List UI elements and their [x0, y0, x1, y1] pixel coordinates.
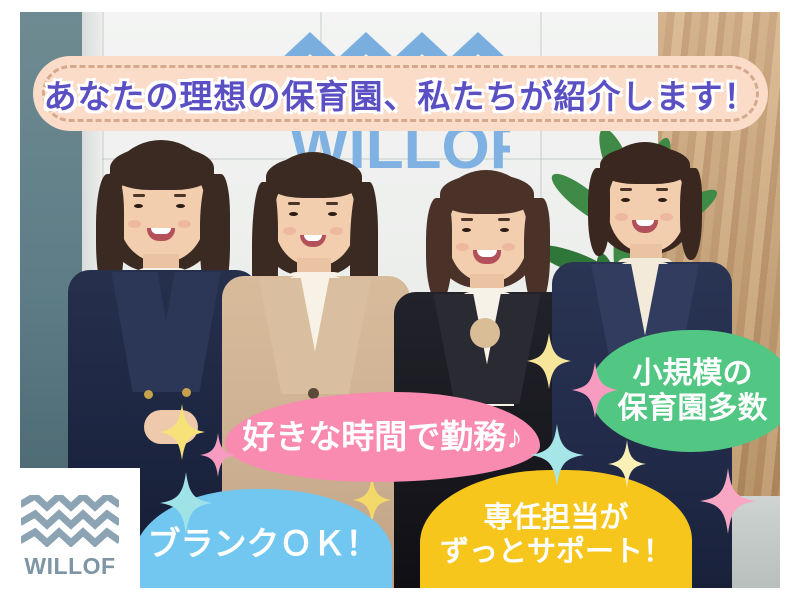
eye-left: [134, 204, 143, 208]
sparkle-pink-right-icon: [700, 468, 756, 534]
hair-fringe: [600, 146, 690, 184]
bubble-pink-line-1: 好きな時間で勤務♪: [242, 418, 523, 457]
brooch: [470, 318, 500, 348]
brow-left: [133, 194, 145, 197]
sparkle-pink-left-icon: [200, 433, 236, 477]
bubble-small-nurseries[interactable]: 小規模の 保育園多数: [590, 330, 795, 452]
jacket-button: [144, 390, 153, 399]
eye-right: [328, 212, 337, 216]
eye-right: [500, 228, 509, 232]
brow-left: [288, 202, 300, 205]
bubble-green-line-2: 保育園多数: [618, 391, 768, 426]
brow-right: [174, 194, 186, 197]
bubble-green-line-1: 小規模の: [618, 356, 768, 391]
sparkle-yellow-center-icon: [527, 333, 571, 389]
hair-side-left: [426, 198, 452, 302]
blush-left: [456, 243, 469, 251]
brow-right: [656, 188, 668, 191]
sparkle-cyan-left-icon: [160, 472, 212, 534]
bubble-dedicated-support[interactable]: 専任担当が ずっとサポート！: [420, 470, 692, 600]
brow-right: [498, 218, 510, 221]
hair-side-left: [588, 168, 610, 256]
blush-left: [615, 213, 628, 221]
hair-side-right: [524, 198, 550, 306]
sparkle-pink-center-icon: [572, 362, 618, 418]
jacket-button: [182, 388, 191, 397]
blush-right: [330, 227, 343, 235]
eye-left: [462, 228, 471, 232]
eye-left: [621, 198, 630, 202]
brow-right: [326, 202, 338, 205]
headline-text: あなたの理想の保育園、私たちが紹介します！: [33, 56, 768, 131]
hair-fringe: [440, 174, 534, 214]
hair-fringe: [266, 156, 362, 198]
blush-right: [502, 243, 515, 251]
willof-logo-badge[interactable]: WILLOF: [0, 468, 140, 600]
blush-left: [128, 220, 141, 228]
poster-canvas: WILLOF: [0, 0, 800, 600]
eye-right: [658, 198, 667, 202]
sparkle-yellow-right-icon: [608, 440, 646, 488]
willof-wordmark: WILLOF: [24, 553, 115, 580]
teeth: [151, 228, 171, 234]
blush-left: [283, 227, 296, 235]
hair-fringe: [110, 146, 214, 190]
blush-right: [660, 213, 673, 221]
frame-top: [0, 0, 800, 12]
headline-banner: あなたの理想の保育園、私たちが紹介します！: [33, 56, 768, 131]
sparkle-cyan-center-icon: [530, 424, 584, 486]
eye-right: [176, 204, 185, 208]
eye-left: [289, 212, 298, 216]
sparkle-yellow-left-icon: [159, 404, 205, 460]
brow-left: [461, 218, 473, 221]
blush-right: [178, 220, 191, 228]
frame-right: [780, 0, 800, 600]
bubble-yellow-line-1: 専任担当が: [440, 501, 672, 535]
brow-left: [620, 188, 632, 191]
willof-wave-icon: [21, 495, 119, 547]
hair-side-right: [680, 168, 702, 260]
bubble-yellow-line-2: ずっとサポート！: [440, 535, 672, 569]
